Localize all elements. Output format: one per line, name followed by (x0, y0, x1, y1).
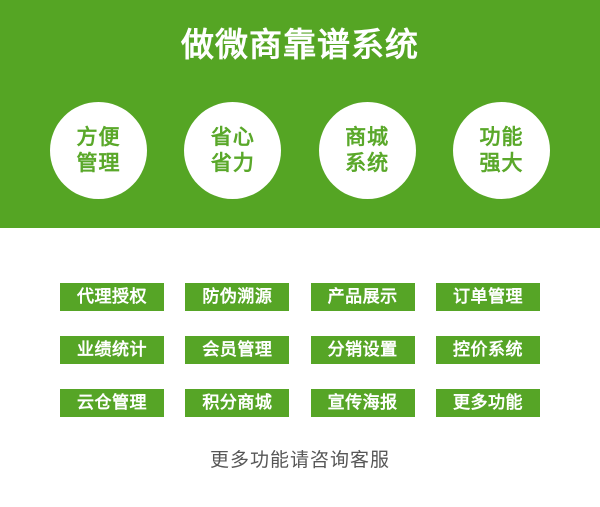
feature-tag[interactable]: 分销设置 (311, 336, 415, 364)
highlight-circle-row: 方便 管理 省心 省力 商城 系统 功能 强大 (50, 102, 550, 199)
feature-tag[interactable]: 会员管理 (185, 336, 289, 364)
highlight-circle-4: 功能 强大 (453, 102, 550, 199)
feature-tag-row: 代理授权 防伪溯源 产品展示 订单管理 (60, 283, 540, 311)
promo-poster: 做微商靠谱系统 方便 管理 省心 省力 商城 系统 功能 强大 代理授权 (0, 0, 600, 507)
highlight-circle-1: 方便 管理 (50, 102, 147, 199)
feature-tag[interactable]: 产品展示 (311, 283, 415, 311)
feature-tag[interactable]: 积分商城 (185, 389, 289, 417)
highlight-circle-3: 商城 系统 (319, 102, 416, 199)
highlight-circle-3-line1: 商城 (345, 125, 389, 151)
footer-note: 更多功能请咨询客服 (0, 448, 600, 474)
feature-tag[interactable]: 订单管理 (436, 283, 540, 311)
highlight-circle-1-line2: 管理 (77, 151, 121, 177)
feature-tag[interactable]: 更多功能 (436, 389, 540, 417)
hero-banner: 做微商靠谱系统 方便 管理 省心 省力 商城 系统 功能 强大 (0, 0, 600, 228)
feature-tag[interactable]: 控价系统 (436, 336, 540, 364)
feature-tag-row: 云仓管理 积分商城 宣传海报 更多功能 (60, 389, 540, 417)
feature-tag-grid: 代理授权 防伪溯源 产品展示 订单管理 业绩统计 会员管理 分销设置 控价系统 … (60, 283, 540, 417)
feature-tag[interactable]: 云仓管理 (60, 389, 164, 417)
feature-tag[interactable]: 防伪溯源 (185, 283, 289, 311)
highlight-circle-4-line1: 功能 (479, 125, 523, 151)
highlight-circle-2-line2: 省力 (211, 151, 255, 177)
highlight-circle-2: 省心 省力 (184, 102, 281, 199)
highlight-circle-3-line2: 系统 (345, 151, 389, 177)
feature-tag-row: 业绩统计 会员管理 分销设置 控价系统 (60, 336, 540, 364)
feature-tag[interactable]: 宣传海报 (311, 389, 415, 417)
page-title: 做微商靠谱系统 (0, 24, 600, 66)
feature-tag[interactable]: 业绩统计 (60, 336, 164, 364)
highlight-circle-4-line2: 强大 (479, 151, 523, 177)
highlight-circle-2-line1: 省心 (211, 125, 255, 151)
feature-tag[interactable]: 代理授权 (60, 283, 164, 311)
highlight-circle-1-line1: 方便 (77, 125, 121, 151)
